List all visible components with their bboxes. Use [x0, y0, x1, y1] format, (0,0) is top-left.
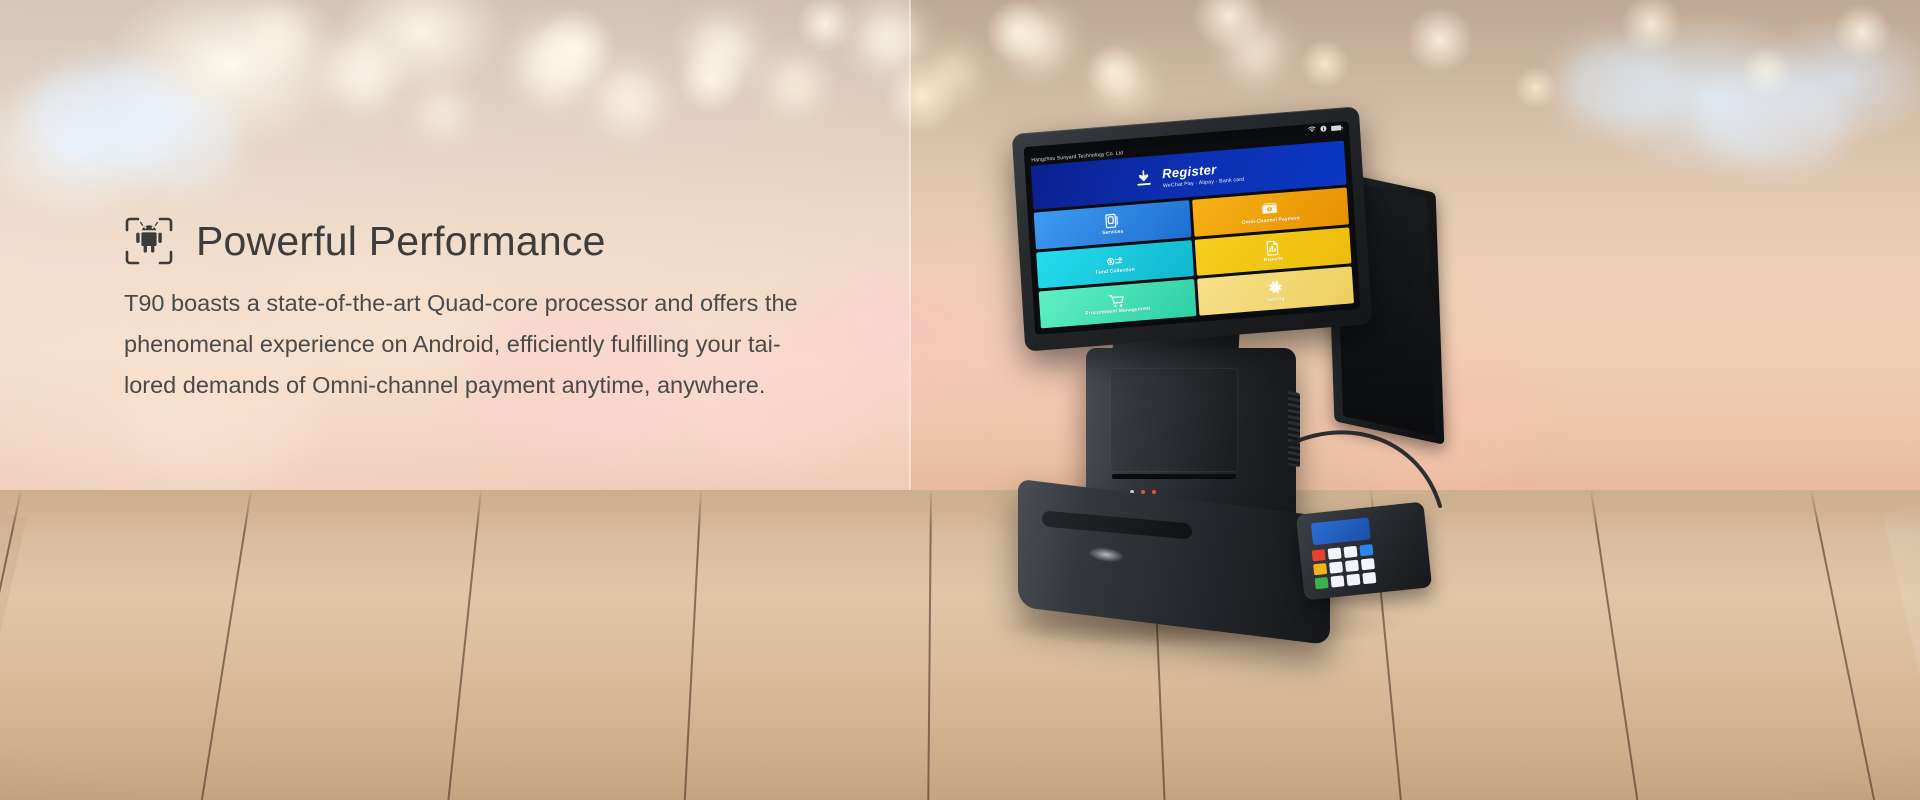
base-card-slot	[1042, 510, 1192, 539]
text-content: Powerful Performance T90 boasts a state-…	[0, 0, 910, 494]
pos-terminal: Hangzhou Sunyard Technology Co. Ltd Regi…	[1000, 110, 1560, 640]
floor-horizon-blur	[0, 490, 1920, 532]
body-paragraph: T90 boasts a state-of-the-art Quad-core …	[124, 283, 872, 406]
page-title: Powerful Performance	[196, 218, 606, 265]
book-card-icon	[1103, 212, 1121, 230]
shopping-cart-icon	[1108, 292, 1127, 308]
battery-icon	[1331, 124, 1343, 131]
merchant-display: Hangzhou Sunyard Technology Co. Ltd Regi…	[1012, 106, 1373, 352]
brand-logo	[1088, 545, 1124, 563]
tile-setting[interactable]: Setting	[1197, 267, 1354, 316]
register-deposit-icon	[1133, 168, 1154, 190]
android-robot-scan-icon	[124, 216, 174, 266]
pinpad-keypad[interactable]	[1312, 544, 1377, 589]
body-line-1: T90 boasts a state-of-the-art Quad-core …	[124, 283, 872, 324]
banner-stage: Powerful Performance T90 boasts a state-…	[0, 0, 1920, 800]
info-icon	[1320, 125, 1327, 133]
headline-row: Powerful Performance	[124, 216, 606, 266]
printer-door[interactable]	[1110, 368, 1238, 472]
pin-pad[interactable]	[1296, 502, 1432, 601]
body-line-2: phenomenal experience on Android, effici…	[124, 324, 872, 365]
tile-label: Omni-Channel Payment	[1240, 216, 1303, 227]
function-tiles: Services Omni-Channel Payment	[1034, 187, 1354, 328]
tile-label: Reports	[1261, 257, 1285, 265]
tile-label: Fund Collection	[1094, 267, 1138, 276]
money-transfer-icon	[1105, 253, 1124, 268]
banknote-icon	[1261, 199, 1280, 218]
body-line-3: lored demands of Omni-channel payment an…	[124, 365, 872, 406]
report-document-icon	[1264, 239, 1281, 257]
tile-label: Setting	[1265, 296, 1287, 303]
tile-label: Services	[1100, 230, 1126, 238]
wifi-icon	[1308, 126, 1316, 134]
printer-paper-slot	[1112, 474, 1236, 479]
register-title: Register	[1162, 162, 1217, 181]
wooden-floor	[0, 490, 1920, 800]
pos-home-screen: Register WeChat Pay · Alipay · Bank card	[1028, 131, 1356, 330]
tile-procurement-management[interactable]: Procurement Management	[1039, 279, 1196, 328]
gear-icon	[1266, 279, 1284, 297]
